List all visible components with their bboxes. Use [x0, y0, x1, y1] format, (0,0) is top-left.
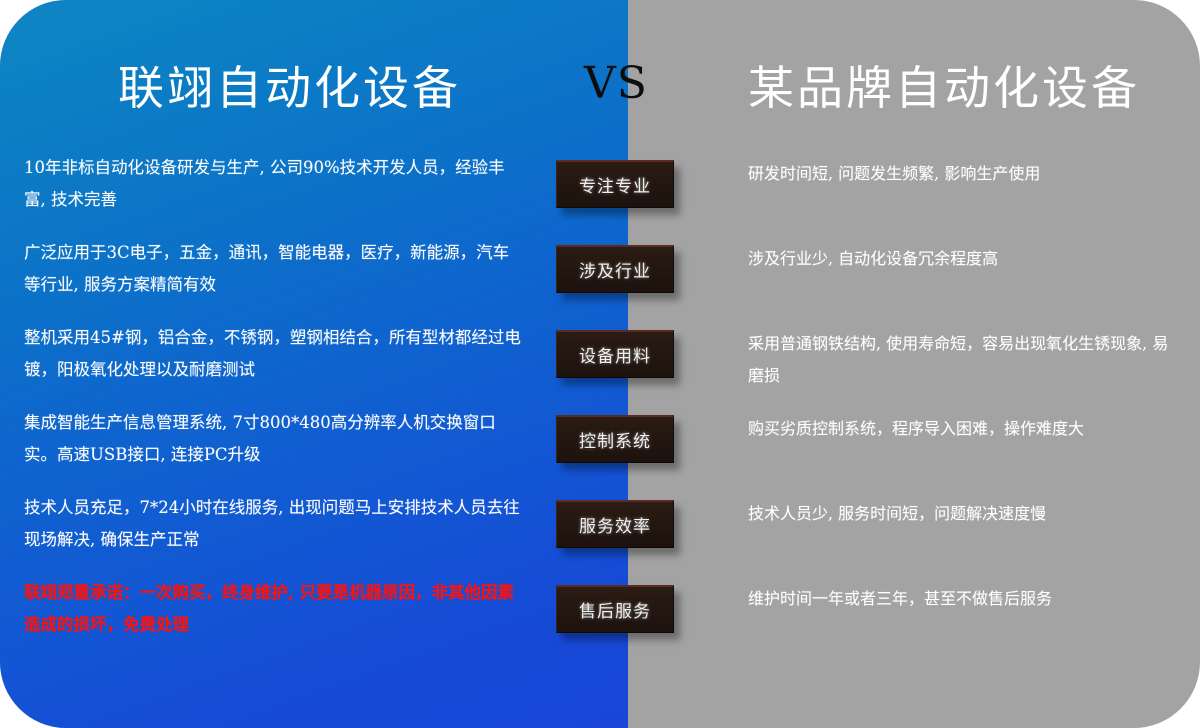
category-label: 专注专业 — [579, 172, 651, 197]
brand-advantage-text: 集成智能生产信息管理系统, 7寸800*480高分辨率人机交换窗口实。高速USB… — [24, 407, 524, 471]
category-plaque: 设备用料 — [556, 330, 674, 378]
category-label: 控制系统 — [579, 427, 651, 452]
brand-guarantee-text: 联翊郑重承诺：一次购买，终身维护, 只要是机器原因，非其他因素造成的损坏，免费处… — [24, 577, 524, 641]
competitor-drawback-text: 技术人员少, 服务时间短，问题解决速度慢 — [748, 498, 1178, 530]
competitor-drawback-text: 涉及行业少, 自动化设备冗余程度高 — [748, 243, 1178, 275]
category-label: 服务效率 — [579, 512, 651, 537]
comparison-row: 集成智能生产信息管理系统, 7寸800*480高分辨率人机交换窗口实。高速USB… — [0, 407, 1200, 492]
competitor-drawback-text: 采用普通钢铁结构, 使用寿命短，容易出现氧化生锈现象, 易磨损 — [748, 328, 1178, 392]
brand-advantage-text: 技术人员充足，7*24小时在线服务, 出现问题马上安排技术人员去往现场解决, 确… — [24, 492, 524, 556]
vs-separator-label: VS — [584, 58, 648, 109]
category-plaque: 专注专业 — [556, 160, 674, 208]
competitor-drawback-text: 研发时间短, 问题发生频繁, 影响生产使用 — [748, 158, 1178, 190]
comparison-row: 广泛应用于3C电子，五金，通讯，智能电器，医疗，新能源，汽车等行业, 服务方案精… — [0, 237, 1200, 322]
category-label: 涉及行业 — [579, 257, 651, 282]
comparison-row: 整机采用45#钢，铝合金，不锈钢，塑钢相结合，所有型材都经过电镀，阳极氧化处理以… — [0, 322, 1200, 407]
category-label: 设备用料 — [579, 342, 651, 367]
brand-title: 联翊自动化设备 — [118, 52, 461, 118]
comparison-row: 联翊郑重承诺：一次购买，终身维护, 只要是机器原因，非其他因素造成的损坏，免费处… — [0, 577, 1200, 662]
brand-advantage-text: 10年非标自动化设备研发与生产, 公司90%技术开发人员，经验丰富, 技术完善 — [24, 152, 524, 216]
comparison-row: 技术人员充足，7*24小时在线服务, 出现问题马上安排技术人员去往现场解决, 确… — [0, 492, 1200, 577]
category-plaque: 涉及行业 — [556, 245, 674, 293]
competitor-title: 某品牌自动化设备 — [748, 52, 1140, 118]
category-plaque: 服务效率 — [556, 500, 674, 548]
competitor-drawback-text: 维护时间一年或者三年，甚至不做售后服务 — [748, 583, 1178, 615]
comparison-row: 10年非标自动化设备研发与生产, 公司90%技术开发人员，经验丰富, 技术完善 … — [0, 152, 1200, 237]
brand-advantage-text: 广泛应用于3C电子，五金，通讯，智能电器，医疗，新能源，汽车等行业, 服务方案精… — [24, 237, 524, 301]
category-label: 售后服务 — [579, 597, 651, 622]
competitor-drawback-text: 购买劣质控制系统，程序导入困难，操作难度大 — [748, 413, 1178, 445]
category-plaque: 售后服务 — [556, 585, 674, 633]
brand-advantage-text: 整机采用45#钢，铝合金，不锈钢，塑钢相结合，所有型材都经过电镀，阳极氧化处理以… — [24, 322, 524, 386]
comparison-poster: 联翊自动化设备 VS 某品牌自动化设备 10年非标自动化设备研发与生产, 公司9… — [0, 0, 1200, 728]
category-plaque: 控制系统 — [556, 415, 674, 463]
